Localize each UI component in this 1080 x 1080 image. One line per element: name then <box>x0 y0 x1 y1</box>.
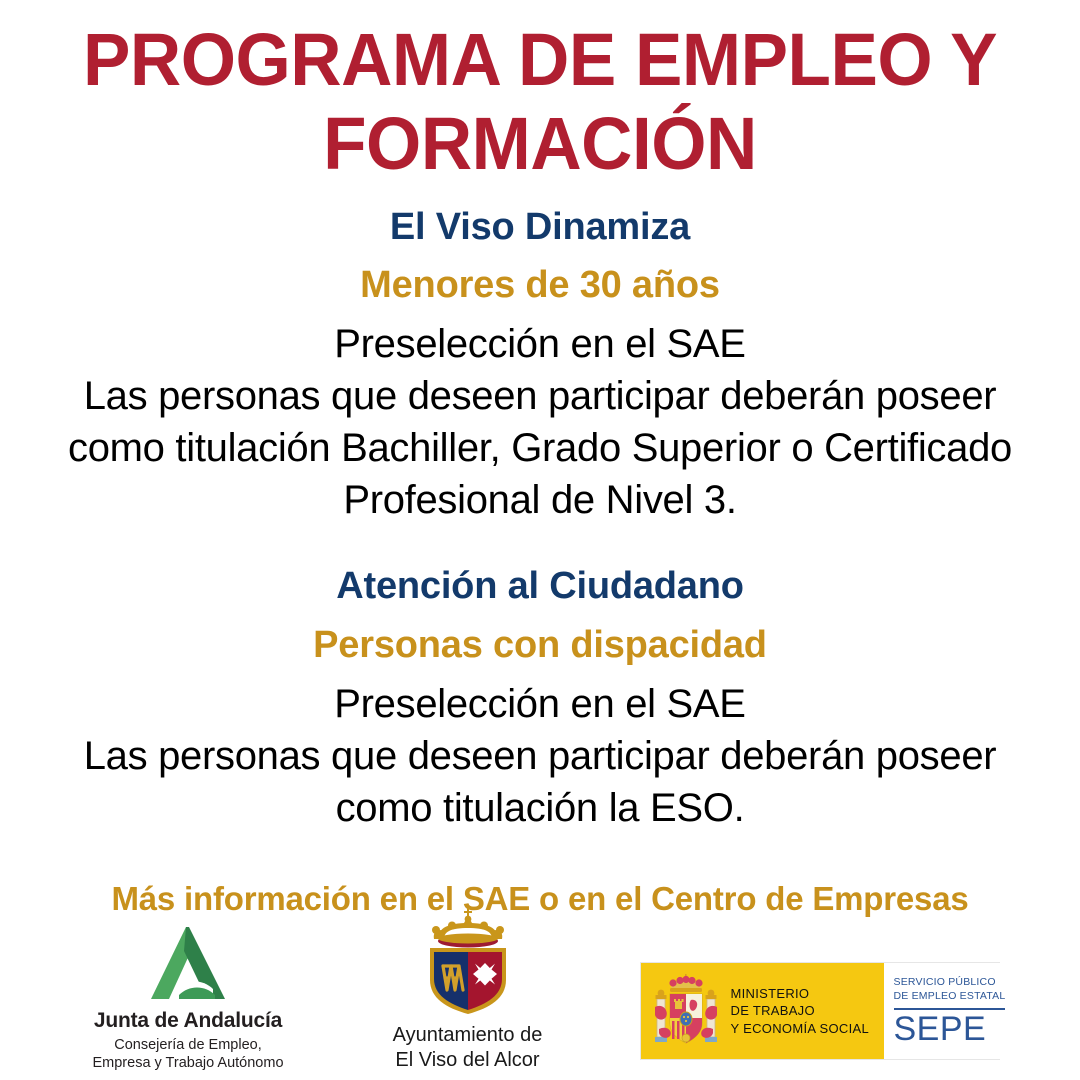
section-1-body-line-3: como titulación Bachiller, Grado Superio… <box>0 422 1080 474</box>
ministerio-band: MINISTERIO DE TRABAJO Y ECONOMÍA SOCIAL <box>641 963 884 1059</box>
ministerio-label: MINISTERIO DE TRABAJO Y ECONOMÍA SOCIAL <box>731 985 870 1037</box>
coat-of-arms-crown-shield-icon <box>416 906 520 1018</box>
section-1-subheading: Menores de 30 años <box>0 260 1080 310</box>
sepe-acronym: SEPE <box>894 1012 1006 1046</box>
section-1-body-line-2: Las personas que deseen participar deber… <box>0 370 1080 422</box>
servicio-line-2: DE EMPLEO ESTATAL <box>894 990 1006 1004</box>
section-1-body: Preselección en el SAE Las personas que … <box>0 318 1080 526</box>
ministerio-line-1: MINISTERIO <box>731 985 870 1002</box>
ministerio-line-3: Y ECONOMÍA SOCIAL <box>731 1020 870 1037</box>
servicio-line-1: SERVICIO PÚBLICO <box>894 976 1006 990</box>
section-2-heading: Atención al Ciudadano <box>0 562 1080 611</box>
section-2-body-line-2: Las personas que deseen participar deber… <box>0 730 1080 782</box>
junta-name-label: Junta de Andalucía <box>94 1009 282 1033</box>
sepe-logo-block: MINISTERIO DE TRABAJO Y ECONOMÍA SOCIAL … <box>640 962 1000 1060</box>
section-el-viso-dinamiza: El Viso Dinamiza Menores de 30 años Pres… <box>0 203 1080 527</box>
spain-coat-of-arms-icon <box>653 973 719 1049</box>
title-line-2: FORMACIÓN <box>22 102 1059 186</box>
section-2-subheading: Personas con dispacidad <box>0 620 1080 670</box>
section-1-heading: El Viso Dinamiza <box>0 203 1080 252</box>
junta-andalucia-a-icon <box>129 925 247 1003</box>
page-title: PROGRAMA DE EMPLEO Y FORMACIÓN <box>0 18 1080 187</box>
logo-ayuntamiento-el-viso-del-alcor: Ayuntamiento de El Viso del Alcor <box>368 906 568 1072</box>
section-2-body: Preselección en el SAE Las personas que … <box>0 678 1080 834</box>
poster-canvas: PROGRAMA DE EMPLEO Y FORMACIÓN El Viso D… <box>0 0 1080 1080</box>
section-1-body-line-1: Preselección en el SAE <box>0 318 1080 370</box>
section-2-body-line-1: Preselección en el SAE <box>0 678 1080 730</box>
title-line-1: PROGRAMA DE EMPLEO Y <box>22 18 1059 102</box>
junta-department-line-2: Empresa y Trabajo Autónomo <box>92 1054 283 1072</box>
logo-ministerio-sepe: MINISTERIO DE TRABAJO Y ECONOMÍA SOCIAL … <box>640 962 1000 1072</box>
logo-strip: Junta de Andalucía Consejería de Empleo,… <box>0 892 1080 1072</box>
ayuntamiento-caption: Ayuntamiento de El Viso del Alcor <box>393 1023 543 1072</box>
ayuntamiento-caption-line-1: Ayuntamiento de <box>393 1023 543 1047</box>
sepe-band: SERVICIO PÚBLICO DE EMPLEO ESTATAL SEPE <box>884 963 1016 1059</box>
section-1-body-line-4: Profesional de Nivel 3. <box>0 474 1080 526</box>
junta-department-label: Consejería de Empleo, Empresa y Trabajo … <box>92 1036 283 1072</box>
ayuntamiento-caption-line-2: El Viso del Alcor <box>393 1048 543 1072</box>
logo-junta-de-andalucia: Junta de Andalucía Consejería de Empleo,… <box>81 925 296 1072</box>
section-2-body-line-3: como titulación la ESO. <box>0 782 1080 834</box>
ministerio-line-2: DE TRABAJO <box>731 1002 870 1019</box>
servicio-publico-label: SERVICIO PÚBLICO DE EMPLEO ESTATAL <box>894 976 1006 1003</box>
junta-department-line-1: Consejería de Empleo, <box>92 1036 283 1054</box>
section-atencion-al-ciudadano: Atención al Ciudadano Personas con dispa… <box>0 562 1080 834</box>
